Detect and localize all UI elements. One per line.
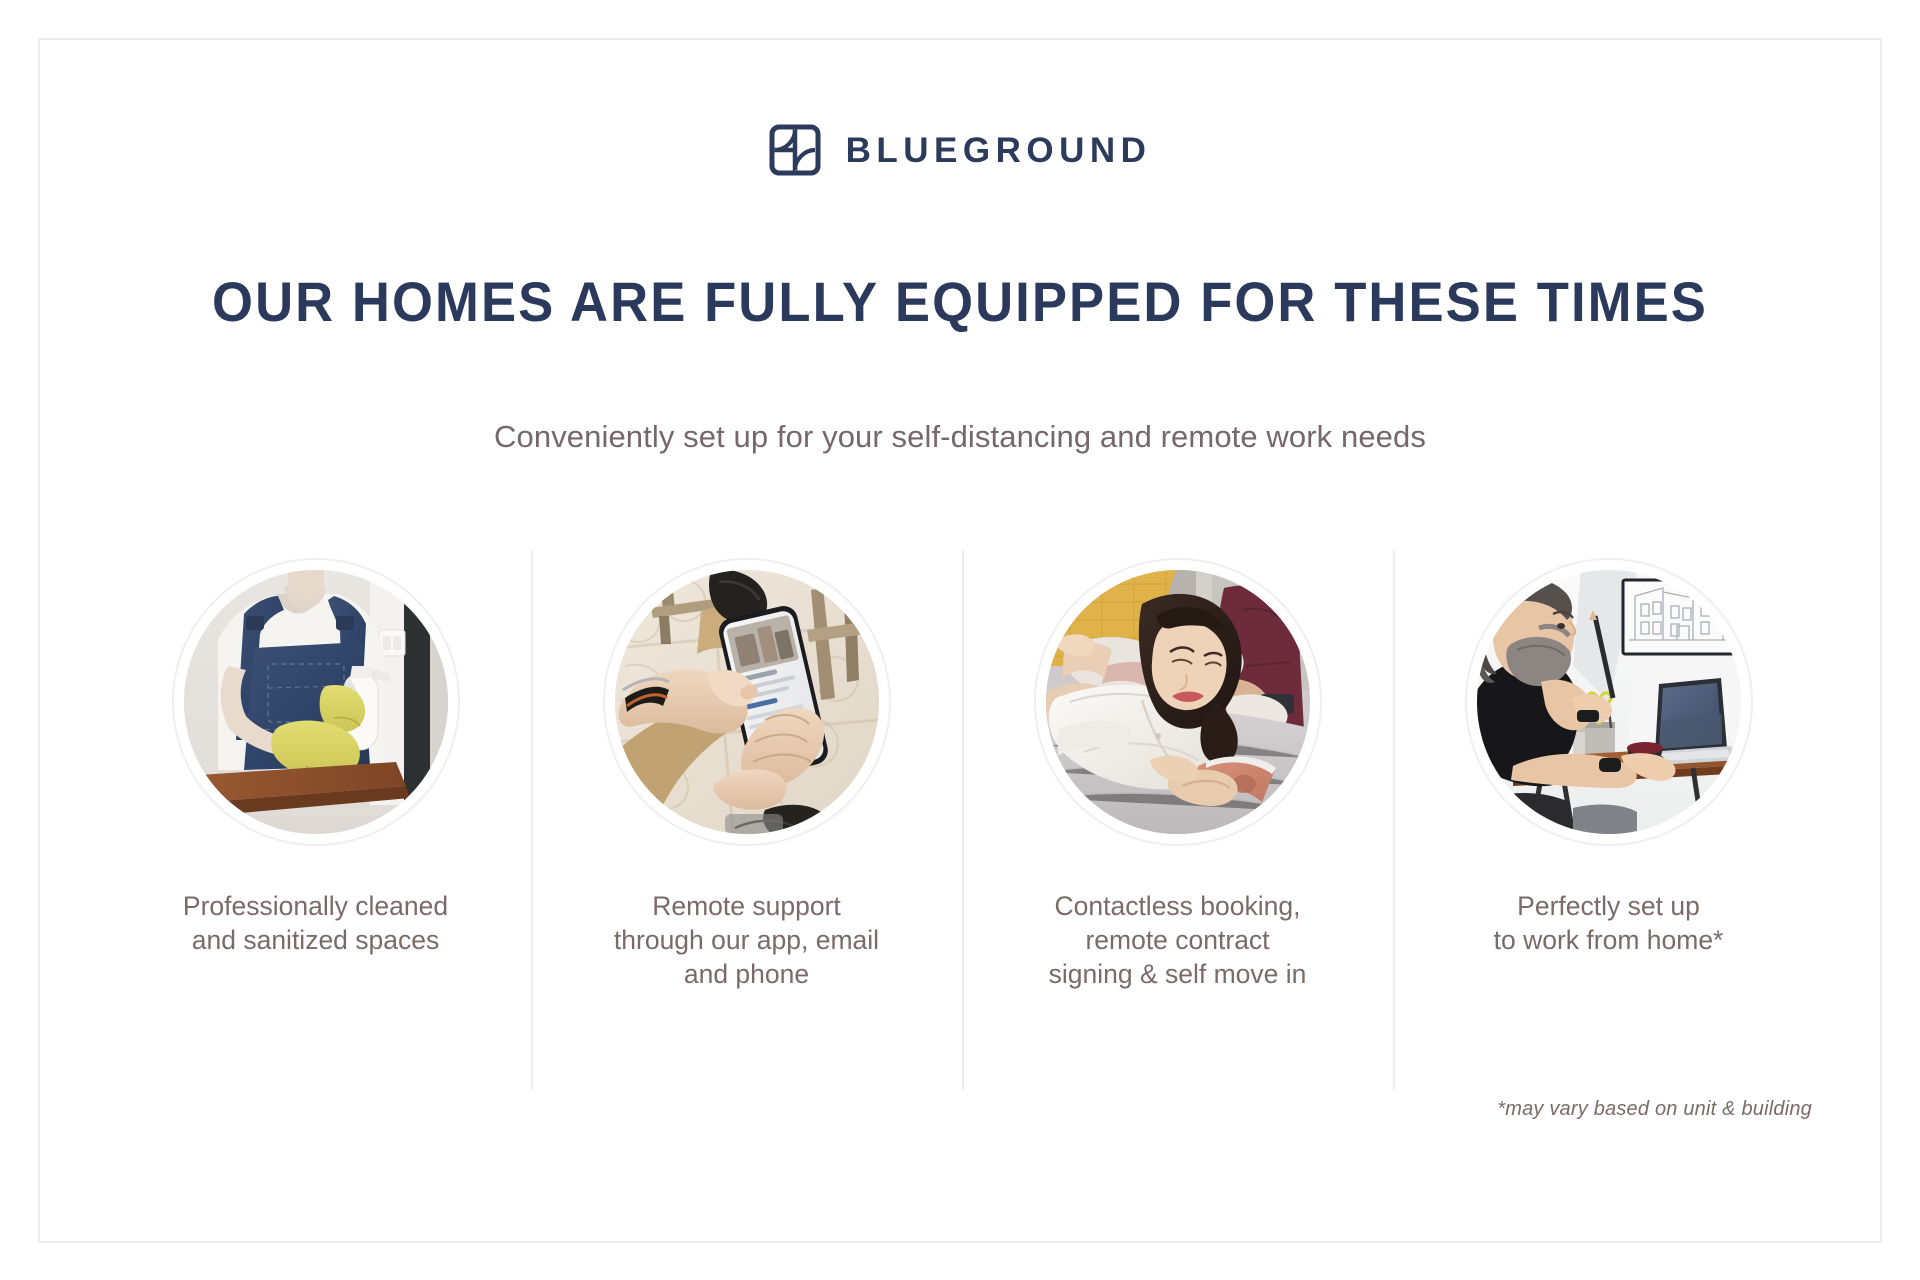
feature-column-cleaning: Professionally cleaned and sanitized spa… — [100, 520, 531, 1100]
photo-contactless-booking — [1036, 560, 1320, 844]
poster-frame: BLUEGROUND OUR HOMES ARE FULLY EQUIPPED … — [38, 38, 1882, 1243]
feature-columns: Professionally cleaned and sanitized spa… — [100, 520, 1824, 1100]
feature-caption: Contactless booking, remote contract sig… — [1049, 890, 1307, 992]
feature-caption: Perfectly set up to work from home* — [1494, 890, 1724, 958]
blueground-square-mark-icon — [769, 124, 821, 176]
photo-professional-cleaning — [174, 560, 458, 844]
page-title: OUR HOMES ARE FULLY EQUIPPED FOR THESE T… — [95, 273, 1825, 332]
photo-work-from-home — [1467, 560, 1751, 844]
feature-column-work-from-home: Perfectly set up to work from home* — [1393, 520, 1824, 1100]
brand-name: BLUEGROUND — [846, 133, 1152, 168]
brand-logo: BLUEGROUND — [40, 124, 1880, 176]
feature-caption: Remote support through our app, email an… — [614, 890, 879, 992]
page-subtitle: Conveniently set up for your self-distan… — [40, 419, 1880, 455]
feature-column-contactless-booking: Contactless booking, remote contract sig… — [962, 520, 1393, 1100]
footnote: *may vary based on unit & building — [1497, 1098, 1812, 1121]
photo-remote-support — [605, 560, 889, 844]
feature-caption: Professionally cleaned and sanitized spa… — [183, 890, 448, 958]
feature-column-remote-support: Remote support through our app, email an… — [531, 520, 962, 1100]
